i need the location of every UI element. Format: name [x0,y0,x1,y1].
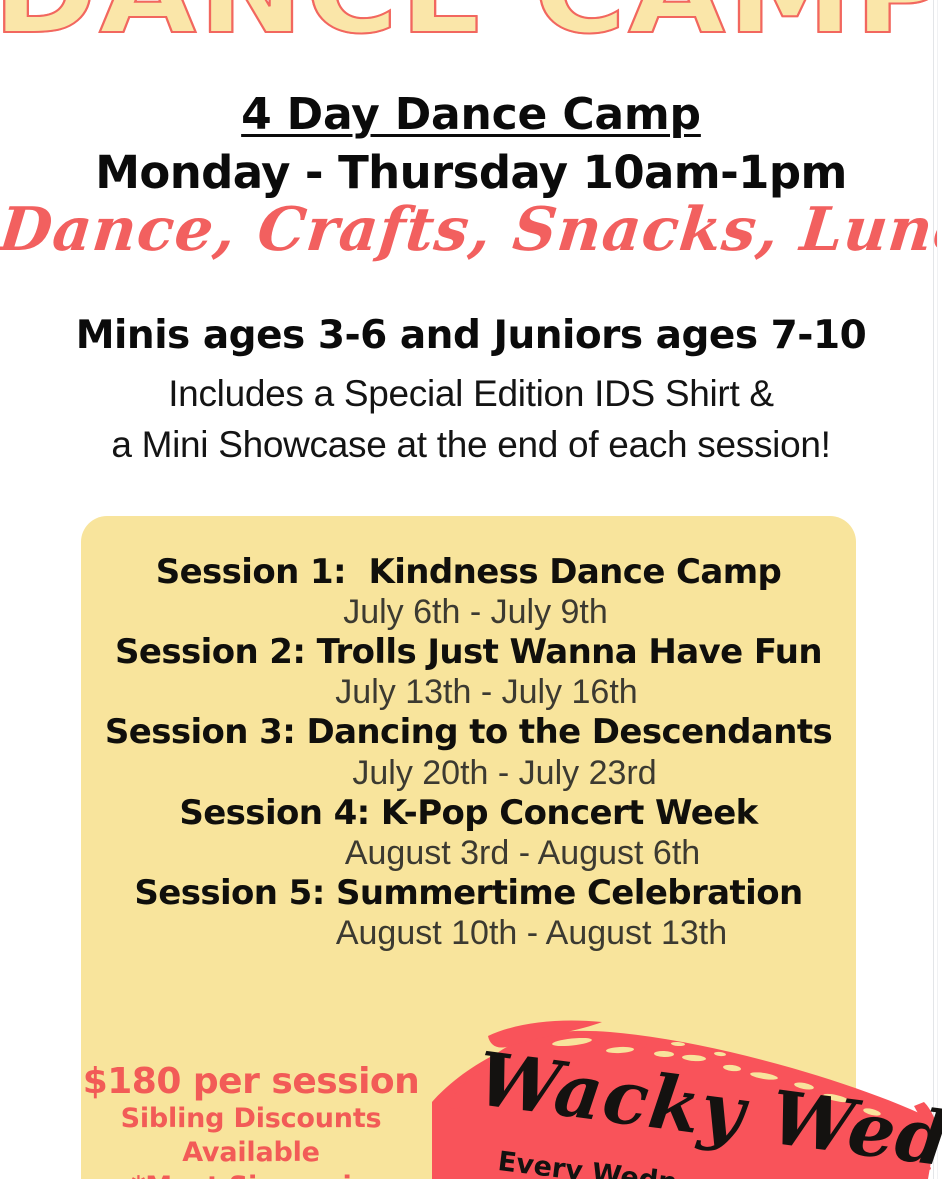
session-title: Session 5: Summertime Celebration [81,873,856,913]
list-item: Session 5: Summertime Celebration August… [81,873,856,953]
page-title: 4 Day Dance Camp [0,90,942,139]
session-title: Session 3: Dancing to the Descendants [81,712,856,752]
includes-line-2: a Mini Showcase at the end of each sessi… [0,419,942,470]
script-tagline: Dance, Crafts, Snacks, Lunch & More! [0,200,942,260]
list-item: Session 2: Trolls Just Wanna Have Fun Ju… [81,632,856,712]
big-title-text: DANCE CAMP [0,0,942,50]
page-edge-divider [933,0,934,1179]
flyer-big-title: DANCE CAMP [0,0,942,50]
headline-underlined-text: 4 Day Dance Camp [241,89,701,140]
pricing-block: $180 per session Sibling Discounts Avail… [81,1062,421,1179]
wacky-wednesdays-banner: Wacky Wednesdays Every Wedn [432,1006,942,1179]
session-title: Session 2: Trolls Just Wanna Have Fun [81,632,856,672]
page-scroll-track[interactable] [937,0,942,1179]
sibling-discount-note: Sibling Discounts Available [81,1102,421,1170]
advance-signup-note: *Must Signup in Advance* [81,1170,421,1179]
session-dates: July 20th - July 23rd [81,753,856,793]
list-item: Session 4: K-Pop Concert Week August 3rd… [81,793,856,873]
price-amount: $180 per session [81,1062,421,1102]
includes-block: Includes a Special Edition IDS Shirt & a… [0,368,942,470]
list-item: Session 1: Kindness Dance Camp July 6th … [81,552,856,632]
session-dates: July 13th - July 16th [81,672,856,712]
includes-line-1: Includes a Special Edition IDS Shirt & [0,368,942,419]
list-item: Session 3: Dancing to the Descendants Ju… [81,712,856,792]
session-dates: August 3rd - August 6th [81,833,856,873]
ages-line: Minis ages 3-6 and Juniors ages 7-10 [0,313,942,358]
sessions-list: Session 1: Kindness Dance Camp July 6th … [81,552,856,953]
schedule-headline: Monday - Thursday 10am-1pm [0,148,942,198]
session-title: Session 1: Kindness Dance Camp [81,552,856,592]
session-dates: August 10th - August 13th [81,913,856,953]
session-dates: July 6th - July 9th [81,592,856,632]
session-title: Session 4: K-Pop Concert Week [81,793,856,833]
dance-camp-flyer: DANCE CAMP 4 Day Dance Camp Monday - Thu… [0,0,942,1179]
